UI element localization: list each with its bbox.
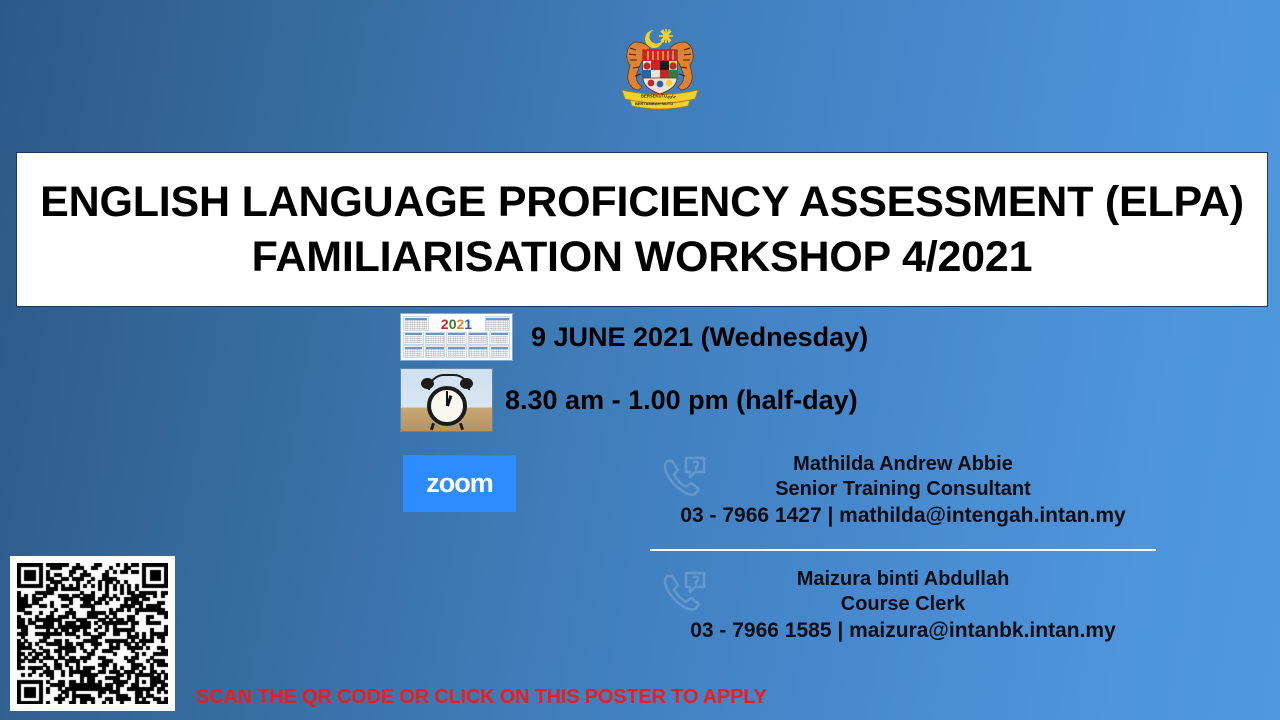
contact-card-2: Maizura binti Abdullah Course Clerk 03 -… xyxy=(650,567,1156,644)
contact-name: Mathilda Andrew Abbie xyxy=(650,452,1156,477)
qr-code-canvas xyxy=(17,563,168,704)
contact-card-1: Mathilda Andrew Abbie Senior Training Co… xyxy=(650,452,1156,529)
contact-name: Maizura binti Abdullah xyxy=(650,567,1156,592)
poster-title-box: ENGLISH LANGUAGE PROFICIENCY ASSESSMENT … xyxy=(16,152,1268,307)
event-date-text: 9 JUNE 2021 (Wednesday) xyxy=(531,322,868,353)
emblem-motto-right: BERTAMBAH MUTU xyxy=(635,101,673,106)
contact-role: Senior Training Consultant xyxy=(650,477,1156,502)
emblem-motto-left: BERSEKUTU xyxy=(641,94,667,99)
zoom-logo-icon[interactable]: zoom xyxy=(403,455,516,512)
phone-contact-icon xyxy=(658,567,710,619)
contact-phone-email[interactable]: 03 - 7966 1427 | mathilda@intengah.intan… xyxy=(650,502,1156,529)
qr-code-icon[interactable] xyxy=(10,556,175,711)
page-title-line-2: FAMILIARISATION WORKSHOP 4/2021 xyxy=(252,230,1033,285)
contact-phone-email[interactable]: 03 - 7966 1585 | maizura@intanbk.intan.m… xyxy=(650,617,1156,644)
phone-contact-icon xyxy=(658,452,710,504)
event-time-row: 8.30 am - 1.00 pm (half-day) xyxy=(400,368,858,432)
poster-canvas[interactable]: BERSEKUTU جاوي BERTAMBAH MUTU ENGLISH LA… xyxy=(0,0,1280,720)
calendar-2021-icon: 2021 xyxy=(400,313,513,361)
event-time-text: 8.30 am - 1.00 pm (half-day) xyxy=(505,385,858,416)
alarm-clock-icon xyxy=(400,368,493,432)
malaysia-coat-of-arms-icon: BERSEKUTU جاوي BERTAMBAH MUTU xyxy=(604,14,716,110)
contact-divider xyxy=(650,549,1156,551)
calendar-year-label: 2021 xyxy=(430,316,484,331)
contact-role: Course Clerk xyxy=(650,592,1156,617)
event-date-row: 2021 9 JUNE 2021 (Wednesday) xyxy=(400,313,868,361)
zoom-logo-label: zoom xyxy=(426,468,493,499)
apply-cta-text: SCAN THE QR CODE OR CLICK ON THIS POSTER… xyxy=(196,686,767,709)
page-title-line-1: ENGLISH LANGUAGE PROFICIENCY ASSESSMENT … xyxy=(40,175,1244,230)
